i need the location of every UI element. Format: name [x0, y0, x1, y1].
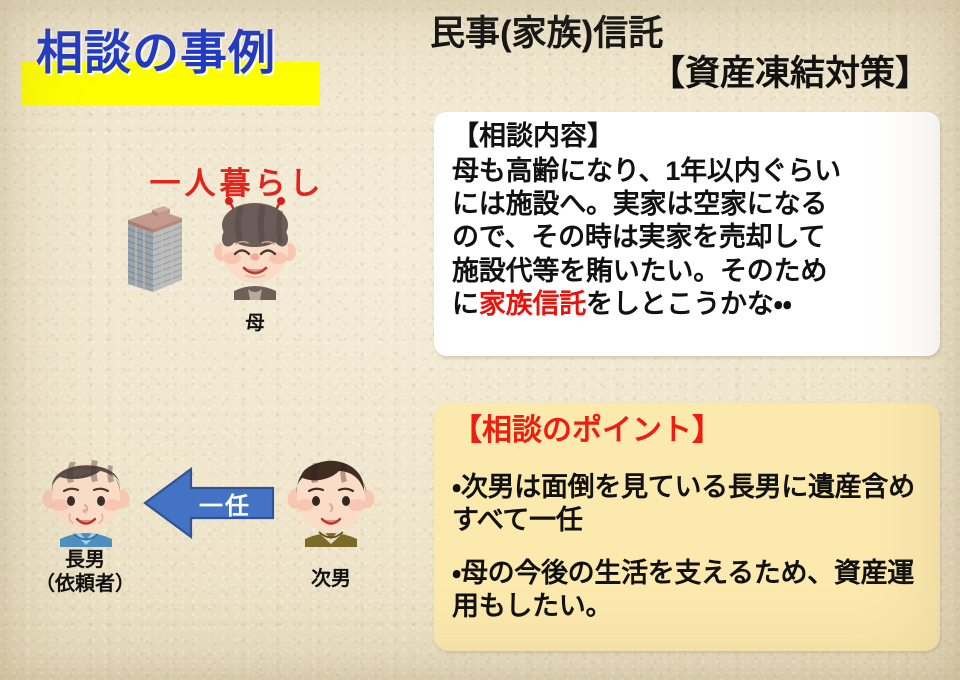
consultation-keyword-highlight: 家族信託: [479, 289, 586, 319]
points-box-title: 【相談のポイント】: [452, 413, 928, 449]
eldest-son-label-line2: （依頼者）: [10, 572, 160, 596]
consultation-content-box: 【相談内容】 母も高齢になり、1年以内ぐらい には施設へ。実家は空家になる ので…: [434, 112, 940, 356]
adult-man-olive-shirt-icon: [283, 447, 379, 547]
point-item-1: ・次男は面倒を見ている長男に遺産含めすべて一任: [452, 471, 928, 537]
consultation-line-1: 母も高齢になり、1年以内ぐらい: [452, 155, 928, 188]
consultation-line-4: 施設代等を賄いたい。そのため: [452, 255, 928, 288]
eldest-son-label-line1: 長男: [10, 548, 160, 572]
mother-label: 母: [205, 308, 305, 335]
heading-block: 民事(家族)信託 【資産凍結対策】: [424, 14, 944, 94]
second-son-label: 次男: [271, 562, 391, 591]
consultation-points-box: 【相談のポイント】 ・次男は面倒を見ている長男に遺産含めすべて一任 ・母の今後の…: [434, 403, 940, 651]
heading-line-2: 【資産凍結対策】: [424, 54, 944, 94]
arrow-label: 一任: [180, 486, 270, 521]
elderly-woman-icon: [208, 192, 302, 300]
consultation-box-title: 【相談内容】: [452, 120, 928, 154]
consultation-line-3: ので、その時は実家を売却して: [452, 221, 928, 254]
adult-man-blue-sweater-icon: [38, 447, 134, 547]
eldest-son-label: 長男 （依頼者）: [10, 548, 160, 596]
consultation-box-body: 母も高齢になり、1年以内ぐらい には施設へ。実家は空家になる ので、その時は実家…: [452, 155, 928, 322]
title-label: 相談の事例: [36, 28, 356, 77]
apartment-building-icon: [122, 200, 188, 300]
point-item-2: ・母の今後の生活を支えるため、資産運用もしたい。: [452, 557, 928, 623]
page-title: 相談の事例: [22, 24, 352, 110]
consultation-line-5-pre: に: [452, 289, 479, 319]
consultation-line-2: には施設へ。実家は空家になる: [452, 188, 928, 221]
slide-canvas: 相談の事例 民事(家族)信託 【資産凍結対策】 【相談内容】 母も高齢になり、1…: [0, 0, 960, 680]
heading-line-1: 民事(家族)信託: [424, 14, 944, 54]
consultation-line-5: に家族信託をしとこうかな・・: [452, 288, 928, 321]
consultation-line-5-post: をしとこうかな・・: [586, 289, 792, 319]
